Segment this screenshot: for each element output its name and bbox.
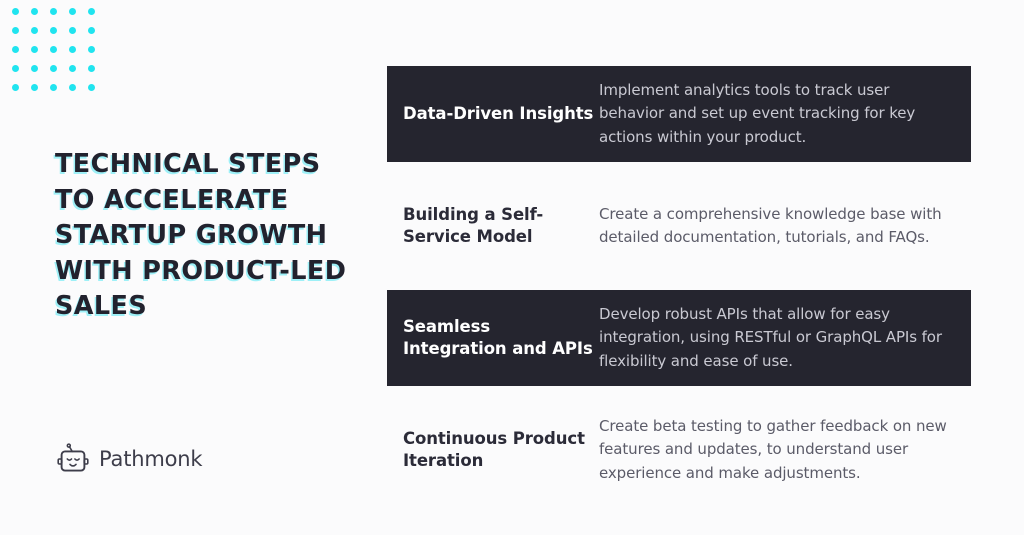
grid-dot — [88, 65, 95, 72]
grid-dot — [12, 46, 19, 53]
grid-dot — [50, 65, 57, 72]
grid-dot — [88, 46, 95, 53]
step-row: Data-Driven Insights Implement analytics… — [387, 66, 971, 162]
grid-dot — [69, 8, 76, 15]
step-title: Building a Self-Service Model — [403, 204, 599, 249]
page-title: TECHNICAL STEPS TO ACCELERATE STARTUP GR… — [55, 147, 355, 325]
brand-logo: Pathmonk — [56, 442, 202, 476]
grid-dot — [69, 65, 76, 72]
step-description: Implement analytics tools to track user … — [599, 79, 955, 150]
grid-dot — [69, 46, 76, 53]
grid-dot — [31, 84, 38, 91]
step-description: Create beta testing to gather feedback o… — [599, 415, 955, 486]
grid-dot — [69, 84, 76, 91]
dot-grid-decoration — [12, 8, 107, 103]
step-title: Continuous Product Iteration — [403, 428, 599, 473]
step-title: Seamless Integration and APIs — [403, 316, 599, 361]
grid-dot — [31, 8, 38, 15]
steps-list: Data-Driven Insights Implement analytics… — [387, 66, 971, 498]
grid-dot — [69, 27, 76, 34]
grid-dot — [31, 65, 38, 72]
grid-dot — [50, 84, 57, 91]
step-row: Continuous Product Iteration Create beta… — [387, 402, 971, 498]
step-title: Data-Driven Insights — [403, 103, 599, 126]
step-row: Building a Self-Service Model Create a c… — [387, 178, 971, 274]
grid-dot — [88, 8, 95, 15]
grid-dot — [12, 27, 19, 34]
grid-dot — [88, 27, 95, 34]
grid-dot — [31, 27, 38, 34]
grid-dot — [31, 46, 38, 53]
grid-dot — [12, 84, 19, 91]
grid-dot — [12, 8, 19, 15]
left-column: TECHNICAL STEPS TO ACCELERATE STARTUP GR… — [0, 0, 380, 535]
grid-dot — [50, 46, 57, 53]
grid-dot — [50, 27, 57, 34]
step-description: Create a comprehensive knowledge base wi… — [599, 203, 955, 250]
grid-dot — [88, 84, 95, 91]
step-description: Develop robust APIs that allow for easy … — [599, 303, 955, 374]
grid-dot — [50, 8, 57, 15]
step-row: Seamless Integration and APIs Develop ro… — [387, 290, 971, 386]
brand-name: Pathmonk — [99, 447, 202, 471]
grid-dot — [12, 65, 19, 72]
robot-head-icon — [56, 442, 90, 476]
